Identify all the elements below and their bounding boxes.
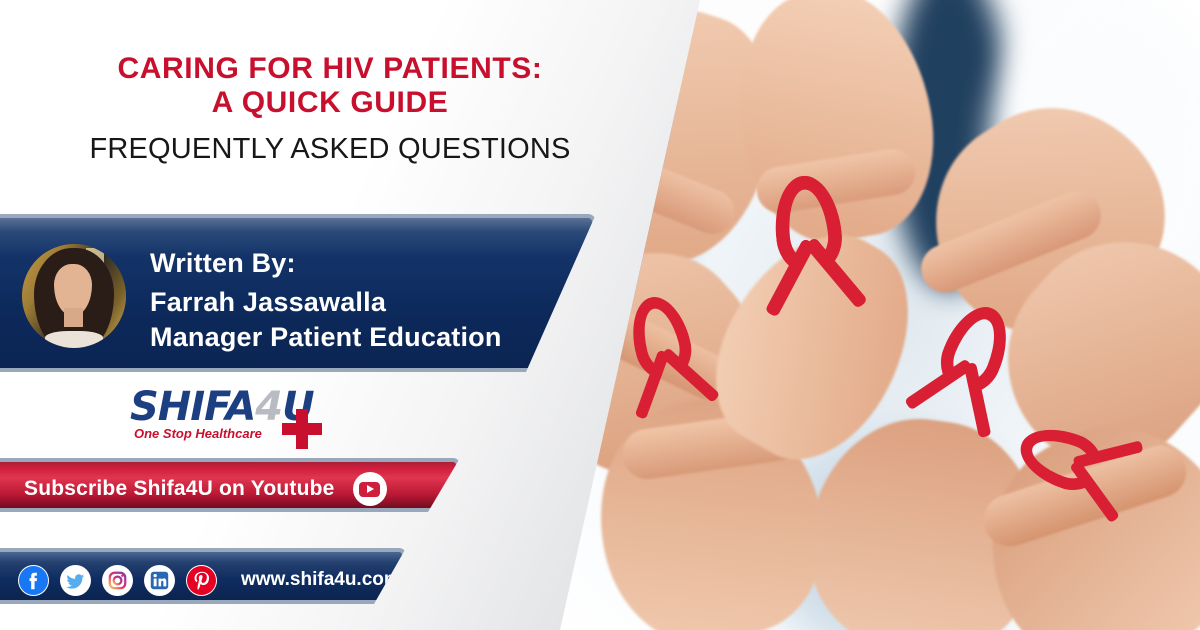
website-url[interactable]: www.shifa4u.com <box>241 569 401 591</box>
author-role: Manager Patient Education <box>150 320 502 355</box>
headline-block: CARING FOR HIV PATIENTS: A QUICK GUIDE F… <box>0 52 660 166</box>
logo-word-shifa: SHIFA <box>130 387 255 427</box>
instagram-icon[interactable] <box>102 565 133 596</box>
subscribe-label: Subscribe Shifa4U on Youtube <box>24 477 335 501</box>
page-title-line1: CARING FOR HIV PATIENTS: <box>0 52 660 86</box>
brand-logo: SHIFA 4 U One Stop Healthcare <box>130 385 314 447</box>
social-links-bar: www.shifa4u.com <box>0 548 406 604</box>
linkedin-icon[interactable] <box>144 565 175 596</box>
avatar <box>22 244 126 348</box>
written-by-label: Written By: <box>150 248 502 279</box>
facebook-icon[interactable] <box>18 565 49 596</box>
subscribe-youtube-button[interactable]: Subscribe Shifa4U on Youtube <box>0 458 460 512</box>
author-banner: Written By: Farrah Jassawalla Manager Pa… <box>0 214 596 372</box>
aids-ribbon-icon <box>745 170 878 340</box>
logo-word-four: 4 <box>255 387 282 427</box>
logo-tagline: One Stop Healthcare <box>134 426 262 441</box>
author-name: Farrah Jassawalla <box>150 285 502 320</box>
pinterest-icon[interactable] <box>186 565 217 596</box>
youtube-play-icon[interactable] <box>353 472 387 506</box>
page-title-line2: A QUICK GUIDE <box>0 86 660 120</box>
twitter-icon[interactable] <box>60 565 91 596</box>
poster-canvas: CARING FOR HIV PATIENTS: A QUICK GUIDE F… <box>0 0 1200 630</box>
medical-cross-icon <box>282 409 322 449</box>
page-subtitle: FREQUENTLY ASKED QUESTIONS <box>0 133 660 166</box>
